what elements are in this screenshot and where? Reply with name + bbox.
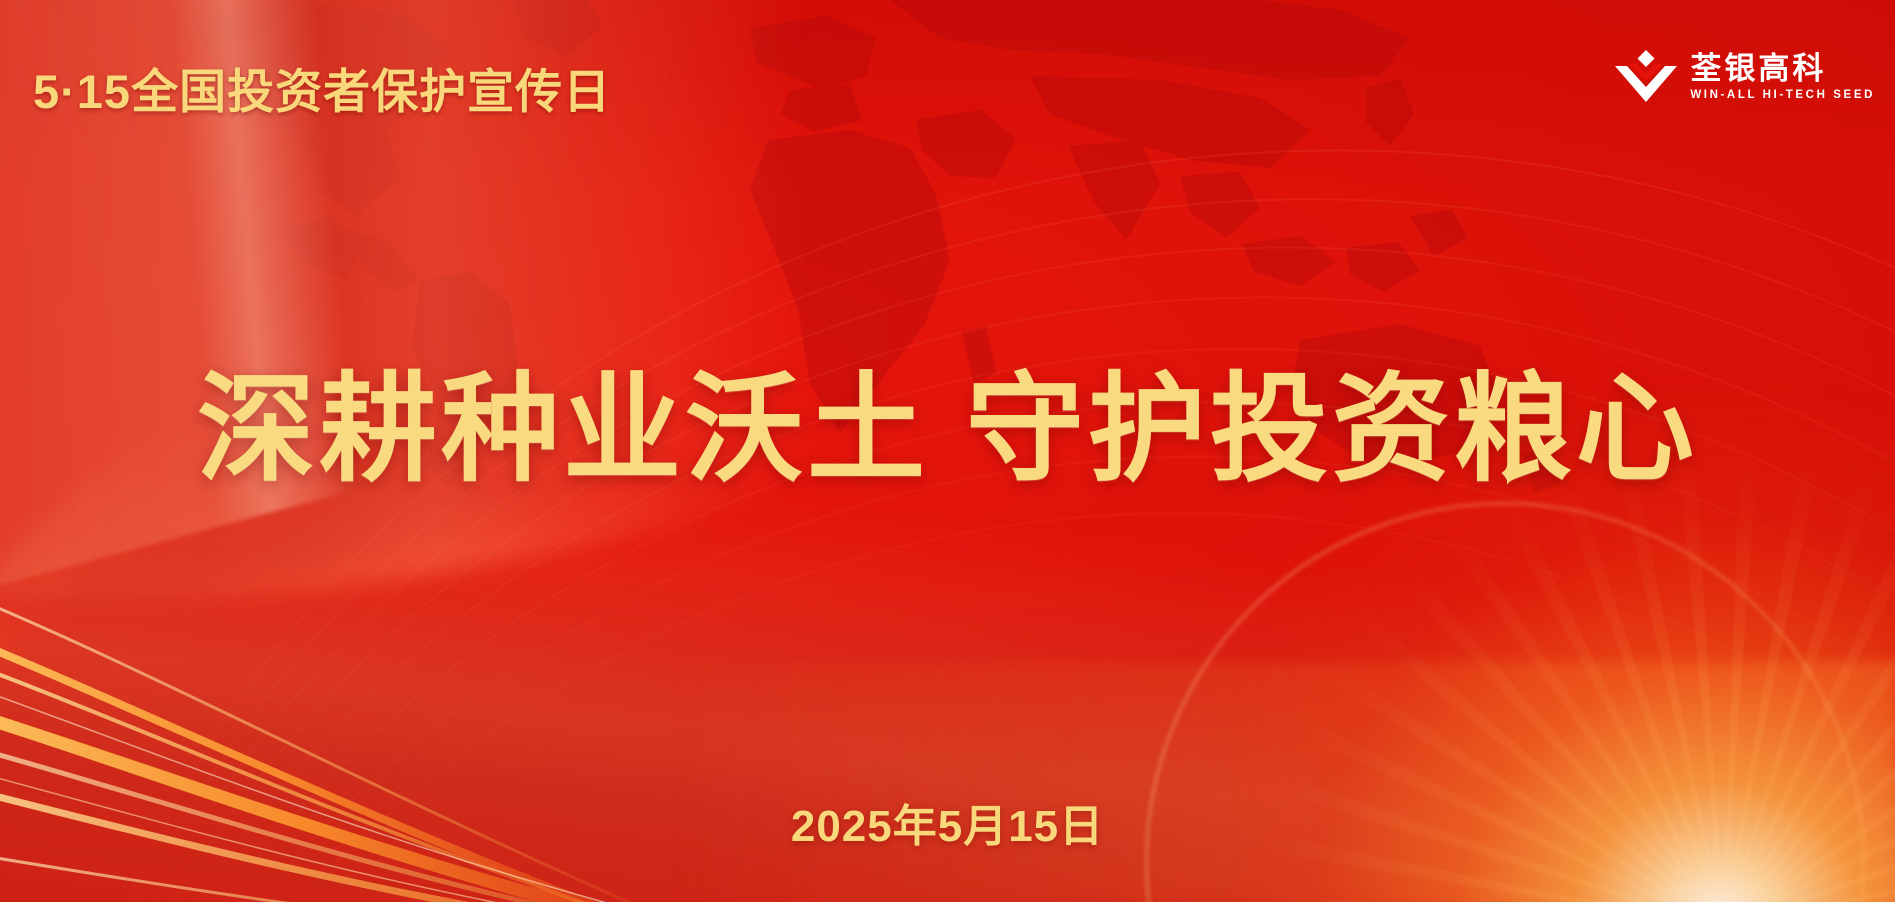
event-date: 2025年5月15日: [0, 790, 1895, 854]
win-all-chevron-logo-icon: [1615, 50, 1677, 106]
campaign-header-tag: 5·15全国投资者保护宣传日: [33, 53, 611, 122]
company-logo[interactable]: 荃银高科 WIN-ALL HI-TECH SEED: [1615, 50, 1875, 106]
logo-text-block: 荃银高科 WIN-ALL HI-TECH SEED: [1690, 54, 1875, 102]
investor-protection-banner: 5·15全国投资者保护宣传日 荃银高科 WIN-ALL HI-TECH SEED…: [0, 0, 1895, 902]
logo-company-name-en: WIN-ALL HI-TECH SEED: [1690, 90, 1875, 102]
logo-company-name-cn: 荃银高科: [1690, 54, 1826, 85]
main-title: 深耕种业沃土 守护投资粮心: [0, 333, 1895, 504]
